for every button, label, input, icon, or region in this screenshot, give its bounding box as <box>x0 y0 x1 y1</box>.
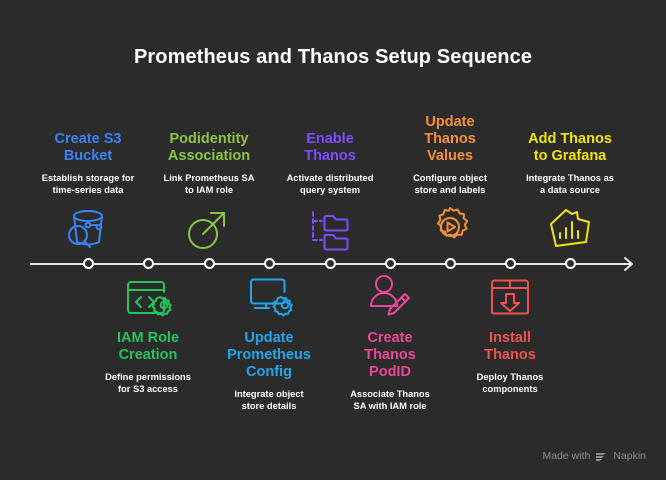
folder-tree-icon <box>302 202 358 258</box>
monitor-gear-icon <box>241 268 297 324</box>
step-text-3: Podidentity AssociationLink Prometheus S… <box>144 131 274 196</box>
timeline-step-5[interactable]: Enable ThanosActivate distributed query … <box>265 88 395 258</box>
step-text-6: Create Thanos PodIDAssociate Thanos SA w… <box>325 330 455 412</box>
step-text-5: Enable ThanosActivate distributed query … <box>265 131 395 196</box>
step-description: Integrate object store details <box>204 388 334 412</box>
step-heading: Update Prometheus Config <box>204 330 334 381</box>
watermark-text: Made with <box>542 450 590 462</box>
step-description: Configure object store and labels <box>385 172 515 196</box>
step-heading: IAM Role Creation <box>83 330 213 364</box>
step-description: Define permissions for S3 access <box>83 371 213 395</box>
step-text-2: IAM Role CreationDefine permissions for … <box>83 330 213 395</box>
step-description: Activate distributed query system <box>265 172 395 196</box>
grafana-chart-icon <box>542 202 598 258</box>
step-text-4: Update Prometheus ConfigIntegrate object… <box>204 330 334 412</box>
step-description: Link Prometheus SA to IAM role <box>144 172 274 196</box>
circle-arrow-out-icon <box>181 202 237 258</box>
napkin-logo-icon <box>595 451 608 462</box>
timeline-step-9[interactable]: Add Thanos to GrafanaIntegrate Thanos as… <box>505 88 635 258</box>
gear-play-icon <box>422 202 478 258</box>
package-download-icon <box>482 268 538 324</box>
timeline-step-6[interactable]: Create Thanos PodIDAssociate Thanos SA w… <box>325 268 455 438</box>
timeline-step-2[interactable]: IAM Role CreationDefine permissions for … <box>83 268 213 438</box>
timeline-step-4[interactable]: Update Prometheus ConfigIntegrate object… <box>204 268 334 438</box>
step-description: Associate Thanos SA with IAM role <box>325 388 455 412</box>
step-heading: Update Thanos Values <box>385 114 515 165</box>
step-text-1: Create S3 BucketEstablish storage for ti… <box>23 131 153 196</box>
user-edit-icon <box>362 268 418 324</box>
timeline-diagram: Prometheus and Thanos Setup Sequence Cre… <box>0 0 666 480</box>
step-heading: Enable Thanos <box>265 131 395 165</box>
timeline-step-7[interactable]: Update Thanos ValuesConfigure object sto… <box>385 88 515 258</box>
step-description: Establish storage for time-series data <box>23 172 153 196</box>
step-text-9: Add Thanos to GrafanaIntegrate Thanos as… <box>505 131 635 196</box>
step-heading: Create Thanos PodID <box>325 330 455 381</box>
page-title: Prometheus and Thanos Setup Sequence <box>0 46 666 69</box>
step-text-8: Install ThanosDeploy Thanos components <box>445 330 575 395</box>
watermark-brand: Napkin <box>613 450 646 462</box>
step-description: Integrate Thanos as a data source <box>505 172 635 196</box>
step-heading: Add Thanos to Grafana <box>505 131 635 165</box>
timeline-step-1[interactable]: Create S3 BucketEstablish storage for ti… <box>23 88 153 258</box>
timeline-step-3[interactable]: Podidentity AssociationLink Prometheus S… <box>144 88 274 258</box>
timeline-step-8[interactable]: Install ThanosDeploy Thanos components <box>445 268 575 438</box>
step-text-7: Update Thanos ValuesConfigure object sto… <box>385 114 515 196</box>
step-description: Deploy Thanos components <box>445 371 575 395</box>
step-heading: Create S3 Bucket <box>23 131 153 165</box>
code-window-gear-icon <box>120 268 176 324</box>
watermark: Made with Napkin <box>542 450 646 462</box>
step-heading: Install Thanos <box>445 330 575 364</box>
s3-bucket-search-icon <box>60 202 116 258</box>
step-heading: Podidentity Association <box>144 131 274 165</box>
